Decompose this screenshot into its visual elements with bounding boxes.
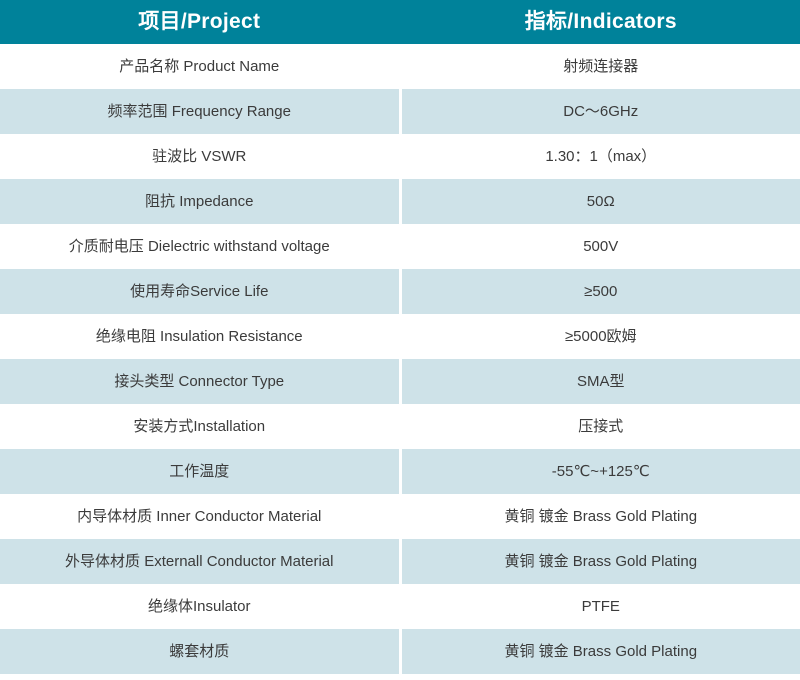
table-row: 驻波比 VSWR1.30：1（max） [0, 134, 800, 179]
cell-indicator: DC～6GHz [400, 89, 800, 134]
table-body: 产品名称 Product Name射频连接器频率范围 Frequency Ran… [0, 44, 800, 674]
table-row: 阻抗 Impedance50Ω [0, 179, 800, 224]
table-row: 使用寿命Service Life≥500 [0, 269, 800, 314]
table-row: 频率范围 Frequency RangeDC～6GHz [0, 89, 800, 134]
table-row: 产品名称 Product Name射频连接器 [0, 44, 800, 89]
cell-indicator: PTFE [400, 584, 800, 629]
cell-indicator: SMA型 [400, 359, 800, 404]
cell-project: 工作温度 [0, 449, 400, 494]
table-row: 螺套材质黄铜 镀金 Brass Gold Plating [0, 629, 800, 674]
cell-project: 内导体材质 Inner Conductor Material [0, 494, 400, 539]
cell-indicator: 500V [400, 224, 800, 269]
table-row: 介质耐电压 Dielectric withstand voltage500V [0, 224, 800, 269]
cell-project: 阻抗 Impedance [0, 179, 400, 224]
cell-indicator: -55℃~+125℃ [400, 449, 800, 494]
table-row: 绝缘体InsulatorPTFE [0, 584, 800, 629]
cell-project: 螺套材质 [0, 629, 400, 674]
cell-indicator: ≥500 [400, 269, 800, 314]
table-row: 内导体材质 Inner Conductor Material黄铜 镀金 Bras… [0, 494, 800, 539]
cell-indicator: ≥5000欧姆 [400, 314, 800, 359]
table-row: 外导体材质 Externall Conductor Material黄铜 镀金 … [0, 539, 800, 584]
cell-project: 安装方式Installation [0, 404, 400, 449]
cell-project: 绝缘体Insulator [0, 584, 400, 629]
cell-indicator: 黄铜 镀金 Brass Gold Plating [400, 629, 800, 674]
cell-project: 接头类型 Connector Type [0, 359, 400, 404]
cell-project: 介质耐电压 Dielectric withstand voltage [0, 224, 400, 269]
cell-indicator: 1.30：1（max） [400, 134, 800, 179]
column-header-indicator: 指标/Indicators [400, 0, 800, 44]
table-row: 工作温度-55℃~+125℃ [0, 449, 800, 494]
cell-indicator: 压接式 [400, 404, 800, 449]
cell-indicator: 黄铜 镀金 Brass Gold Plating [400, 539, 800, 584]
cell-project: 频率范围 Frequency Range [0, 89, 400, 134]
table-row: 接头类型 Connector TypeSMA型 [0, 359, 800, 404]
cell-indicator: 50Ω [400, 179, 800, 224]
cell-project: 外导体材质 Externall Conductor Material [0, 539, 400, 584]
cell-indicator: 黄铜 镀金 Brass Gold Plating [400, 494, 800, 539]
table-header: 项目/Project 指标/Indicators [0, 0, 800, 44]
cell-project: 驻波比 VSWR [0, 134, 400, 179]
cell-project: 使用寿命Service Life [0, 269, 400, 314]
cell-indicator: 射频连接器 [400, 44, 800, 89]
table-row: 安装方式Installation压接式 [0, 404, 800, 449]
table-header-row: 项目/Project 指标/Indicators [0, 0, 800, 44]
cell-project: 产品名称 Product Name [0, 44, 400, 89]
cell-project: 绝缘电阻 Insulation Resistance [0, 314, 400, 359]
column-header-project: 项目/Project [0, 0, 400, 44]
table-row: 绝缘电阻 Insulation Resistance≥5000欧姆 [0, 314, 800, 359]
specification-table: 项目/Project 指标/Indicators 产品名称 Product Na… [0, 0, 800, 674]
